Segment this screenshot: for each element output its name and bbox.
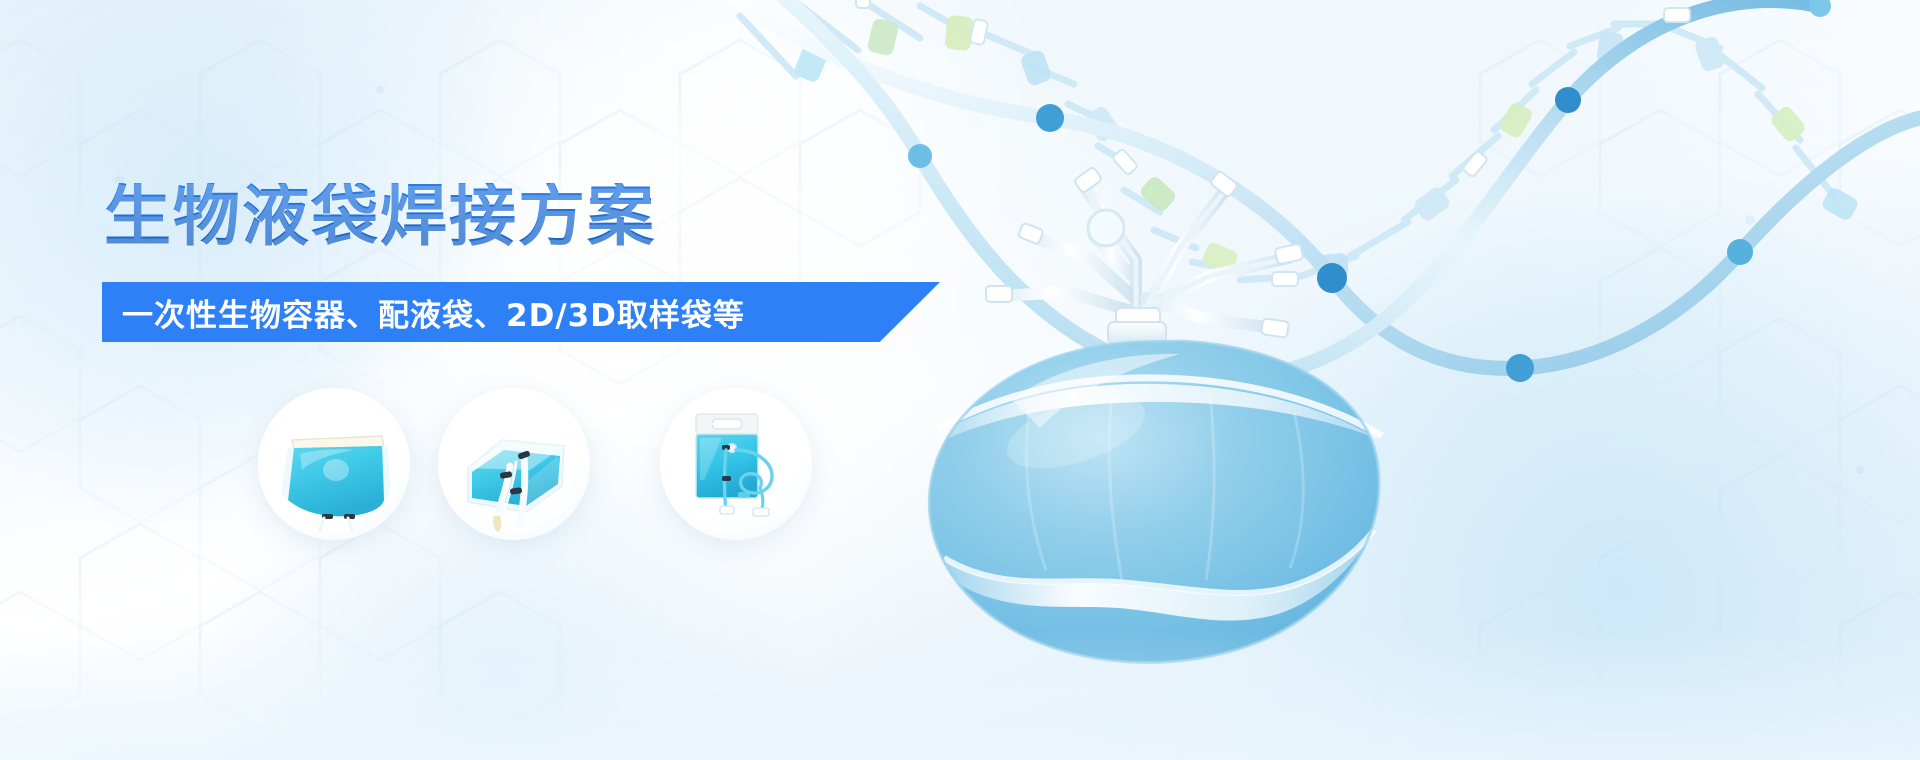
flat-liquid-bag-icon (258, 388, 410, 540)
product-thumbnail-3[interactable] (660, 388, 812, 540)
product-thumbnail-1[interactable] (258, 388, 410, 540)
product-thumbnail-2[interactable] (438, 388, 590, 540)
product-banner: 生物液袋焊接方案 一次性生物容器、配液袋、2D/3D取样袋等 (0, 0, 1920, 760)
sampling-bag-kit-icon (660, 388, 812, 540)
page-title: 生物液袋焊接方案 (104, 183, 656, 250)
subtitle-text: 一次性生物容器、配液袋、2D/3D取样袋等 (102, 290, 745, 335)
tubed-liquid-bag-icon (438, 388, 590, 540)
bioprocess-bag-icon (880, 60, 1440, 670)
subtitle-banner: 一次性生物容器、配液袋、2D/3D取样袋等 (102, 282, 940, 342)
